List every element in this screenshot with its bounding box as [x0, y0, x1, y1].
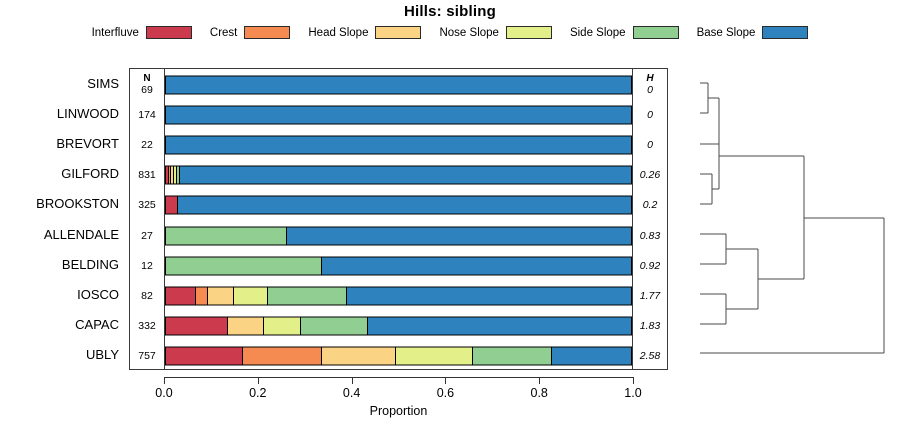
h-cell: 0.26 [633, 160, 667, 190]
n-value: 82 [141, 290, 153, 302]
h-value: 0 [647, 109, 653, 121]
x-axis-tick [352, 377, 353, 384]
chart-row: 220 [130, 130, 667, 160]
chart-legend: InterfluveCrestHead SlopeNose SlopeSide … [0, 26, 900, 39]
x-axis-tick [164, 377, 165, 384]
h-cell: 1.83 [633, 311, 667, 341]
x-axis-tick-label: 1.0 [624, 386, 641, 400]
n-cell: 332 [130, 311, 164, 341]
x-axis-tick [539, 377, 540, 384]
bar-segment-base-slope[interactable] [180, 167, 631, 184]
bar-segment-side-slope[interactable] [268, 287, 347, 304]
chart-row: N69H0 [130, 70, 667, 100]
stacked-bar-capac[interactable] [165, 317, 632, 336]
n-value: 69 [141, 84, 153, 96]
bar-area [165, 341, 632, 371]
bar-segment-base-slope[interactable] [166, 136, 631, 153]
n-value: 174 [138, 109, 156, 121]
bar-segment-interfluve[interactable] [166, 348, 243, 365]
n-value: 757 [138, 350, 156, 362]
n-cell: 174 [130, 100, 164, 130]
h-cell: 0 [633, 100, 667, 130]
x-axis-tick-label: 0.8 [530, 386, 547, 400]
x-axis-line [164, 377, 633, 378]
x-axis-tick [258, 377, 259, 384]
legend-swatch [146, 26, 192, 39]
legend-label: Side Slope [570, 27, 626, 39]
h-value: 0.92 [640, 260, 660, 272]
stacked-bar-gilford[interactable] [165, 166, 632, 185]
h-cell: H0 [633, 70, 667, 100]
n-value: 325 [138, 199, 156, 211]
bar-segment-nose-slope[interactable] [264, 318, 301, 335]
h-value: 0 [647, 139, 653, 151]
legend-swatch [633, 26, 679, 39]
x-axis-tick-label: 0.2 [249, 386, 266, 400]
n-column-header: N [143, 73, 150, 84]
h-value: 2.58 [640, 350, 660, 362]
bar-segment-head-slope[interactable] [322, 348, 396, 365]
stacked-bar-allendale[interactable] [165, 226, 632, 245]
bar-segment-base-slope[interactable] [347, 287, 631, 304]
legend-swatch [762, 26, 808, 39]
bar-segment-crest[interactable] [196, 287, 208, 304]
n-cell: 22 [130, 130, 164, 160]
bar-segment-base-slope[interactable] [166, 106, 631, 123]
n-value: 332 [138, 320, 156, 332]
x-axis-tick-label: 0.4 [343, 386, 360, 400]
bar-segment-head-slope[interactable] [208, 287, 235, 304]
legend-item-side-slope[interactable]: Side Slope [570, 26, 679, 39]
legend-swatch [244, 26, 290, 39]
y-axis-label-brookston: BROOKSTON [36, 189, 119, 219]
y-axis-label-ubly: UBLY [86, 340, 119, 370]
y-axis-label-iosco: IOSCO [77, 280, 119, 310]
h-cell: 1.77 [633, 281, 667, 311]
n-value: 12 [141, 260, 153, 272]
legend-item-head-slope[interactable]: Head Slope [308, 26, 421, 39]
legend-item-interfluve[interactable]: Interfluve [92, 26, 192, 39]
legend-item-crest[interactable]: Crest [210, 26, 290, 39]
y-axis-label-capac: CAPAC [75, 310, 119, 340]
legend-label: Nose Slope [439, 27, 498, 39]
bar-segment-base-slope[interactable] [166, 76, 631, 93]
stacked-bar-sims[interactable] [165, 75, 632, 94]
bar-area [165, 160, 632, 190]
stacked-bar-brookston[interactable] [165, 196, 632, 215]
n-cell: 27 [130, 221, 164, 251]
chart-row: 8310.26 [130, 160, 667, 190]
bar-segment-side-slope[interactable] [166, 227, 287, 244]
h-cell: 0 [633, 130, 667, 160]
y-axis-label-gilford: GILFORD [61, 159, 119, 189]
y-axis-label-linwood: LINWOOD [57, 99, 119, 129]
h-value: 0 [647, 84, 653, 96]
chart-row: 7572.58 [130, 341, 667, 371]
legend-swatch [375, 26, 421, 39]
h-value: 0.26 [640, 169, 660, 181]
stacked-bar-brevort[interactable] [165, 135, 632, 154]
stacked-bar-iosco[interactable] [165, 286, 632, 305]
n-value: 27 [141, 230, 153, 242]
legend-label: Crest [210, 27, 237, 39]
legend-item-nose-slope[interactable]: Nose Slope [439, 26, 551, 39]
x-axis-title: Proportion [129, 404, 668, 418]
chart-row: 1740 [130, 100, 667, 130]
h-cell: 0.2 [633, 190, 667, 220]
h-value: 1.77 [640, 290, 660, 302]
bar-segment-base-slope[interactable] [552, 348, 631, 365]
h-cell: 0.92 [633, 251, 667, 281]
x-axis-tick-label: 0.0 [155, 386, 172, 400]
bar-segment-base-slope[interactable] [368, 318, 631, 335]
n-cell: 831 [130, 160, 164, 190]
y-axis-label-brevort: BREVORT [56, 129, 119, 159]
bar-segment-head-slope[interactable] [228, 318, 264, 335]
bar-segment-side-slope[interactable] [301, 318, 368, 335]
legend-label: Head Slope [308, 27, 368, 39]
legend-item-base-slope[interactable]: Base Slope [697, 26, 809, 39]
stacked-bar-belding[interactable] [165, 256, 632, 275]
h-value: 0.83 [640, 230, 660, 242]
n-cell: 82 [130, 281, 164, 311]
y-axis-label-allendale: ALLENDALE [44, 220, 119, 250]
stacked-bar-linwood[interactable] [165, 105, 632, 124]
h-value: 1.83 [640, 320, 660, 332]
bar-segment-nose-slope[interactable] [396, 348, 473, 365]
bar-area [165, 221, 632, 251]
bar-area [165, 281, 632, 311]
plot-panel: N69H017402208310.263250.2270.83120.92821… [129, 68, 668, 370]
x-axis: 0.00.20.40.60.81.0 [129, 370, 668, 384]
stacked-bar-rows: N69H017402208310.263250.2270.83120.92821… [130, 69, 667, 369]
y-axis-label-belding: BELDING [62, 250, 119, 280]
n-cell: 12 [130, 251, 164, 281]
bar-area [165, 100, 632, 130]
h-cell: 2.58 [633, 341, 667, 371]
dendrogram-svg [686, 68, 900, 370]
h-cell: 0.83 [633, 221, 667, 251]
bar-area [165, 130, 632, 160]
bar-segment-base-slope[interactable] [287, 227, 631, 244]
bar-area [165, 70, 632, 100]
bar-area [165, 311, 632, 341]
legend-label: Base Slope [697, 27, 756, 39]
stacked-bar-ubly[interactable] [165, 347, 632, 366]
bar-area [165, 251, 632, 281]
bar-segment-base-slope[interactable] [322, 257, 631, 274]
y-axis-label-sims: SIMS [87, 69, 119, 99]
n-value: 22 [141, 139, 153, 151]
n-cell: N69 [130, 70, 164, 100]
bar-area [165, 190, 632, 220]
h-value: 0.2 [643, 199, 658, 211]
bar-segment-interfluve[interactable] [166, 287, 196, 304]
x-axis-tick [633, 377, 634, 384]
chart-row: 3321.83 [130, 311, 667, 341]
dendrogram [686, 68, 900, 370]
chart-row: 270.83 [130, 221, 667, 251]
n-cell: 325 [130, 190, 164, 220]
bar-segment-side-slope[interactable] [166, 257, 322, 274]
n-cell: 757 [130, 341, 164, 371]
bar-segment-nose-slope[interactable] [234, 287, 268, 304]
bar-segment-base-slope[interactable] [178, 197, 631, 214]
bar-segment-crest[interactable] [243, 348, 322, 365]
chart-row: 821.77 [130, 281, 667, 311]
y-axis-labels: SIMSLINWOODBREVORTGILFORDBROOKSTONALLEND… [0, 68, 126, 370]
legend-label: Interfluve [92, 27, 139, 39]
x-axis-tick [445, 377, 446, 384]
bar-segment-interfluve[interactable] [166, 197, 178, 214]
bar-segment-side-slope[interactable] [473, 348, 552, 365]
legend-swatch [506, 26, 552, 39]
chart-row: 120.92 [130, 251, 667, 281]
chart-row: 3250.2 [130, 190, 667, 220]
h-column-header: H [646, 73, 653, 84]
x-axis-tick-label: 0.6 [437, 386, 454, 400]
bar-segment-interfluve[interactable] [166, 318, 228, 335]
page-title: Hills: sibling [0, 3, 900, 20]
n-value: 831 [138, 169, 156, 181]
